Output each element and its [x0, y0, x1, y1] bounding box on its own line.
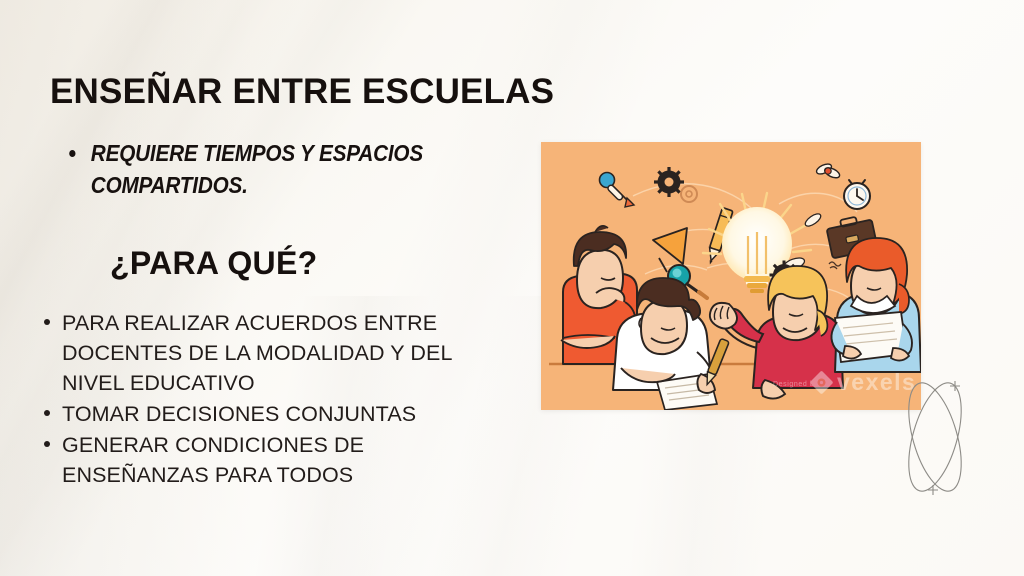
watermark-brand: vexels [837, 369, 916, 395]
detail-bullet-item: TOMAR DECISIONES CONJUNTAS [38, 399, 508, 429]
detail-bullet-list: PARA REALIZAR ACUERDOS ENTRE DOCENTES DE… [38, 308, 508, 492]
lead-bullet-item: REQUIERE TIEMPOS Y ESPACIOS COMPARTIDOS. [62, 138, 449, 201]
detail-bullet-item: GENERAR CONDICIONES DE ENSEÑANZAS PARA T… [38, 430, 508, 490]
slide-title: ENSEÑAR ENTRE ESCUELAS [50, 72, 554, 112]
brainstorming-illustration: Designed by vexels [541, 142, 921, 410]
detail-bullet-item: PARA REALIZAR ACUERDOS ENTRE DOCENTES DE… [38, 308, 508, 398]
slide-subtitle: ¿PARA QUÉ? [110, 245, 317, 282]
lead-bullet-list: REQUIERE TIEMPOS Y ESPACIOS COMPARTIDOS. [62, 138, 492, 201]
illustration-svg: Designed by vexels [541, 142, 921, 410]
slide-canvas: ENSEÑAR ENTRE ESCUELAS REQUIERE TIEMPOS … [0, 0, 1024, 576]
